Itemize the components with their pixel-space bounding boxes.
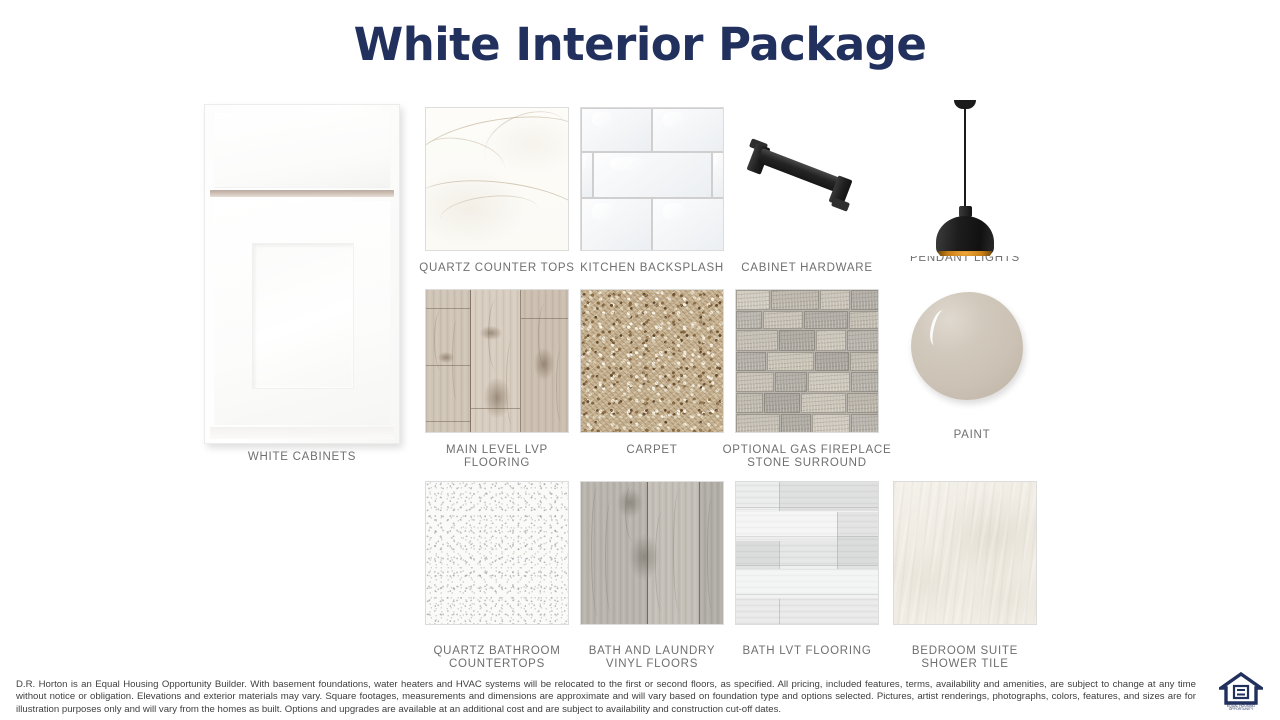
swatch-bedroom-suite-shower-tile: BEDROOM SUITE SHOWER TILE bbox=[893, 481, 1047, 671]
paint-image bbox=[900, 285, 1044, 429]
stone-block bbox=[763, 311, 803, 329]
bar-pull-end-cap bbox=[831, 197, 850, 211]
swatch-main-level-lvp-flooring: MAIN LEVEL LVP FLOORING bbox=[425, 289, 579, 470]
bar-pull-grip bbox=[757, 148, 843, 193]
cabinet-recessed-panel bbox=[252, 243, 354, 389]
stone-block bbox=[851, 414, 879, 433]
pendant-inner-glow bbox=[938, 251, 992, 256]
stone-block bbox=[847, 330, 879, 351]
wood-grain bbox=[488, 300, 504, 370]
subway-tile bbox=[653, 109, 723, 151]
stone-block bbox=[736, 352, 766, 371]
equals-bar-bottom bbox=[1237, 694, 1245, 696]
wood-grain bbox=[707, 498, 717, 610]
lvt-seam bbox=[779, 541, 780, 569]
subway-tile bbox=[582, 199, 651, 250]
subway-tile bbox=[713, 153, 723, 197]
bedroom-suite-shower-tile-label: BEDROOM SUITE SHOWER TILE bbox=[883, 645, 1047, 671]
carpet-label: CARPET bbox=[570, 444, 734, 457]
stone-block bbox=[801, 393, 846, 413]
wood-grain bbox=[538, 304, 552, 368]
cabinet-drawer-front bbox=[214, 113, 390, 187]
lvt-seam bbox=[837, 512, 838, 541]
bar-pull-icon bbox=[735, 107, 879, 251]
swatch-kitchen-backsplash: KITCHEN BACKSPLASH bbox=[580, 107, 734, 275]
main-level-lvp-flooring-image bbox=[425, 289, 569, 433]
stone-block bbox=[736, 311, 762, 329]
wood-grain bbox=[591, 486, 605, 616]
shower-tile-mottling bbox=[894, 482, 1036, 624]
wood-grain bbox=[556, 350, 566, 422]
stone-block bbox=[764, 393, 800, 413]
bath-and-laundry-vinyl-floors-label: BATH AND LAUNDRY VINYL FLOORS bbox=[570, 645, 734, 671]
paint-label: PAINT bbox=[890, 429, 1054, 442]
bath-lvt-flooring-image bbox=[735, 481, 879, 625]
quartz-counter-tops-image bbox=[425, 107, 569, 251]
stone-block bbox=[815, 352, 849, 371]
subway-tile bbox=[582, 153, 592, 197]
page-title: White Interior Package bbox=[0, 18, 1280, 71]
lvt-plank-shade bbox=[837, 541, 879, 569]
cabinet-hardware-image bbox=[735, 107, 879, 251]
bath-and-laundry-vinyl-floors-image bbox=[580, 481, 724, 625]
pendant-lights-image bbox=[893, 96, 1037, 256]
wood-grain bbox=[673, 490, 685, 610]
cabinet-body bbox=[204, 104, 400, 444]
equals-box bbox=[1234, 686, 1248, 698]
stone-block bbox=[736, 330, 778, 351]
swatch-carpet: CARPET bbox=[580, 289, 734, 457]
swatch-pendant-lights: PENDANT LIGHTS bbox=[893, 96, 1047, 265]
wood-grain bbox=[605, 502, 617, 612]
stone-block bbox=[736, 393, 763, 413]
lvt-seam bbox=[779, 599, 780, 625]
swatch-optional-gas-fireplace-stone-surround: OPTIONAL GAS FIREPLACE STONE SURROUND bbox=[735, 289, 899, 470]
lvt-plank-shade bbox=[736, 541, 779, 569]
stone-block bbox=[808, 372, 850, 392]
white-cabinets-image bbox=[204, 104, 400, 444]
carpet-fiber-texture bbox=[581, 290, 723, 432]
bath-lvt-flooring-label: BATH LVT FLOORING bbox=[725, 645, 889, 658]
cabinet-hardware-label: CABINET HARDWARE bbox=[725, 262, 889, 275]
stone-block bbox=[767, 352, 814, 371]
kitchen-backsplash-label: KITCHEN BACKSPLASH bbox=[570, 262, 734, 275]
swatch-quartz-counter-tops: QUARTZ COUNTER TOPS bbox=[425, 107, 579, 275]
equal-housing-opportunity-logo: EQUAL HOUSING OPPORTUNITY bbox=[1219, 671, 1263, 711]
swatch-cabinet-hardware: CABINET HARDWARE bbox=[735, 107, 889, 275]
stone-block bbox=[781, 414, 811, 433]
wood-grain bbox=[655, 512, 669, 612]
quartz-vein bbox=[439, 191, 542, 238]
lvt-plank-shade bbox=[736, 512, 837, 541]
stone-block bbox=[736, 372, 774, 392]
swatch-bath-lvt-flooring: BATH LVT FLOORING bbox=[735, 481, 889, 658]
lvt-seam bbox=[779, 482, 780, 511]
quartz-bathroom-countertops-image bbox=[425, 481, 569, 625]
quartz-counter-tops-label: QUARTZ COUNTER TOPS bbox=[415, 262, 579, 275]
eho-text-line2: OPPORTUNITY bbox=[1229, 707, 1254, 711]
white-cabinets-label: WHITE CABINETS bbox=[180, 451, 424, 464]
stone-block bbox=[775, 372, 807, 392]
stone-block bbox=[779, 330, 815, 351]
subway-tile bbox=[582, 109, 651, 151]
stone-block bbox=[851, 290, 879, 310]
subway-tile bbox=[653, 199, 723, 250]
pendant-light-icon bbox=[893, 96, 1037, 256]
plank-seam bbox=[426, 308, 470, 309]
paint-gloss-highlight bbox=[927, 309, 951, 348]
stone-block bbox=[804, 311, 848, 329]
stone-block bbox=[736, 414, 780, 433]
kitchen-backsplash-image bbox=[580, 107, 724, 251]
stone-surround-image bbox=[735, 289, 879, 433]
wood-grain bbox=[434, 310, 448, 370]
wood-grain bbox=[452, 320, 462, 400]
lvt-plank-shade bbox=[736, 570, 879, 598]
stone-block bbox=[820, 290, 850, 310]
stone-block bbox=[847, 393, 879, 413]
lvt-seam bbox=[837, 541, 838, 569]
eho-house-icon: EQUAL HOUSING OPPORTUNITY bbox=[1219, 671, 1263, 711]
stone-block bbox=[849, 311, 879, 329]
stone-block bbox=[812, 414, 850, 433]
stone-block bbox=[771, 290, 819, 310]
wood-grain bbox=[506, 340, 518, 425]
stone-block bbox=[851, 372, 879, 392]
plank-seam bbox=[426, 421, 470, 422]
stone-block bbox=[850, 352, 879, 371]
main-level-lvp-flooring-label: MAIN LEVEL LVP FLOORING bbox=[415, 444, 579, 470]
plank-seam bbox=[426, 365, 470, 366]
pendant-cord bbox=[964, 108, 966, 208]
pendant-shade bbox=[936, 216, 994, 256]
bedroom-suite-shower-tile-image bbox=[893, 481, 1037, 625]
legal-disclaimer: D.R. Horton is an Equal Housing Opportun… bbox=[16, 679, 1196, 716]
swatch-quartz-bathroom-countertops: QUARTZ BATHROOM COUNTERTOPS bbox=[425, 481, 579, 671]
wood-grain bbox=[625, 482, 643, 542]
lvt-plank-shade bbox=[837, 512, 879, 541]
quartz-bathroom-countertops-label: QUARTZ BATHROOM COUNTERTOPS bbox=[415, 645, 579, 671]
swatch-bath-and-laundry-vinyl-floors: BATH AND LAUNDRY VINYL FLOORS bbox=[580, 481, 734, 671]
carpet-image bbox=[580, 289, 724, 433]
cabinet-shadow-gap bbox=[210, 190, 394, 197]
equals-bar-top bbox=[1237, 689, 1245, 691]
lvt-plank-shade bbox=[779, 482, 879, 511]
cabinet-door bbox=[214, 201, 390, 425]
stone-block bbox=[816, 330, 846, 351]
swatch-paint: PAINT bbox=[900, 285, 1054, 442]
paint-color-blob bbox=[911, 292, 1023, 400]
stone-block bbox=[736, 290, 770, 310]
cabinet-base-rail bbox=[210, 427, 394, 439]
stone-surround-label: OPTIONAL GAS FIREPLACE STONE SURROUND bbox=[715, 444, 899, 470]
subway-tile bbox=[594, 153, 711, 197]
